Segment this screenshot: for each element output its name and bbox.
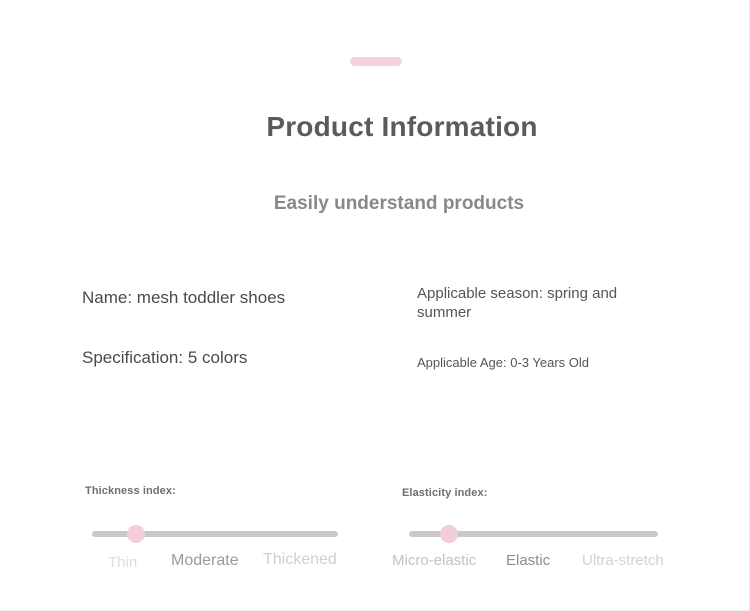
elasticity-slider-labels: Micro-elastic Elastic Ultra-stretch (402, 552, 660, 572)
elasticity-slider-handle[interactable] (440, 525, 458, 543)
thickness-slider[interactable] (85, 523, 340, 545)
thickness-index-caption: Thickness index: (85, 485, 340, 497)
thickness-option-thickened[interactable]: Thickened (263, 551, 337, 569)
product-attributes-right-column: Applicable season: spring and summer App… (417, 285, 717, 371)
elasticity-index-caption: Elasticity index: (402, 487, 660, 499)
page-subtitle: Easily understand products (0, 193, 750, 215)
thickness-slider-handle[interactable] (127, 525, 145, 543)
attribute-applicable-season: Applicable season: spring and summer (417, 285, 622, 323)
product-attributes-left-column: Name: mesh toddler shoes Specification: … (82, 287, 402, 369)
thickness-option-moderate[interactable]: Moderate (171, 552, 239, 570)
product-information-page: Product Information Easily understand pr… (0, 0, 750, 611)
thickness-option-thin[interactable]: Thin (108, 554, 137, 571)
attribute-product-name: Name: mesh toddler shoes (82, 287, 402, 308)
elasticity-index-slider-group: Elasticity index: Micro-elastic Elastic … (402, 487, 660, 572)
attribute-specification: Specification: 5 colors (82, 347, 402, 368)
accent-pill-decoration (350, 57, 402, 66)
thickness-slider-labels: Thin Moderate Thickened (85, 552, 340, 572)
thickness-index-slider-group: Thickness index: Thin Moderate Thickened (85, 485, 340, 572)
elasticity-option-elastic[interactable]: Elastic (506, 552, 550, 569)
page-title: Product Information (0, 111, 750, 143)
elasticity-option-micro-elastic[interactable]: Micro-elastic (392, 552, 476, 569)
attribute-applicable-age: Applicable Age: 0-3 Years Old (417, 355, 717, 371)
elasticity-slider[interactable] (402, 523, 660, 545)
elasticity-option-ultra-stretch[interactable]: Ultra-stretch (582, 552, 664, 569)
